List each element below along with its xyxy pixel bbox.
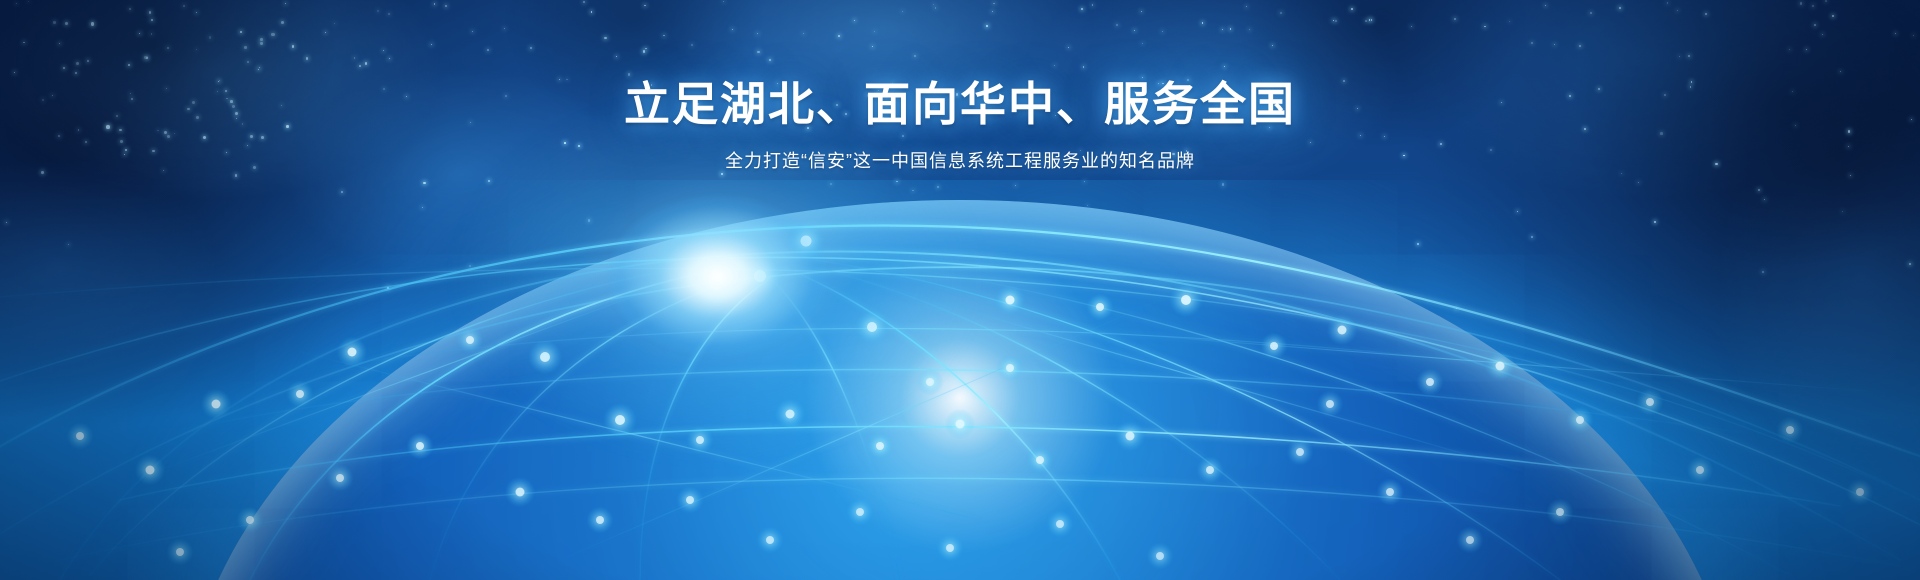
flare-core: [608, 196, 828, 356]
hero-banner: 立足湖北、面向华中、服务全国 全力打造“信安”这一中国信息系统工程服务业的知名品…: [0, 0, 1920, 580]
